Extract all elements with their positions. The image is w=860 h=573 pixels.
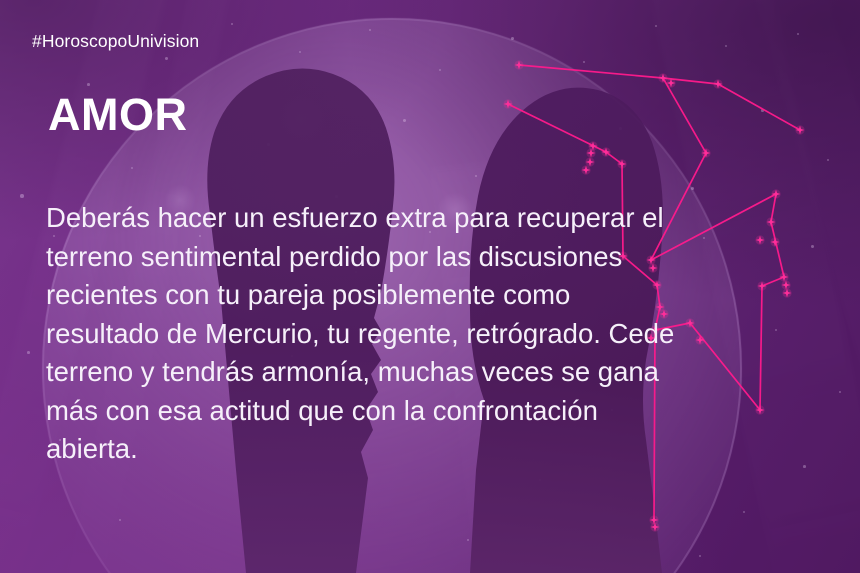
constellation-star [650, 522, 659, 531]
constellation-star [666, 78, 675, 87]
body-line: recientes con tu pareja posiblemente com… [46, 276, 806, 315]
body-line: más con esa actitud que con la confronta… [46, 392, 806, 431]
constellation-star [601, 147, 610, 156]
constellation-star [795, 125, 804, 134]
constellation-star [581, 165, 590, 174]
constellation-star [586, 148, 595, 157]
constellation-star [701, 148, 710, 157]
body-line: terreno y tendrás armonía, muchas veces … [46, 353, 806, 392]
constellation-star [713, 79, 722, 88]
page-title: AMOR [48, 92, 187, 137]
constellation-line [519, 65, 663, 78]
constellation-star [771, 189, 780, 198]
constellation-star [503, 99, 512, 108]
horoscope-card: #HoroscopoUnivision AMOR Deberás hacer u… [0, 0, 860, 573]
constellation-star [617, 159, 626, 168]
constellation-line [663, 78, 706, 153]
body-line: resultado de Mercurio, tu regente, retró… [46, 315, 806, 354]
constellation-line [718, 84, 800, 130]
body-line: Deberás hacer un esfuerzo extra para rec… [46, 199, 806, 238]
hashtag-label: #HoroscopoUnivision [32, 31, 199, 52]
constellation-star [514, 60, 523, 69]
horoscope-body-text: Deberás hacer un esfuerzo extra para rec… [46, 199, 806, 469]
constellation-star [658, 73, 667, 82]
body-line: abierta. [46, 430, 806, 469]
body-line: terreno sentimental perdido por las disc… [46, 238, 806, 277]
constellation-star [585, 157, 594, 166]
